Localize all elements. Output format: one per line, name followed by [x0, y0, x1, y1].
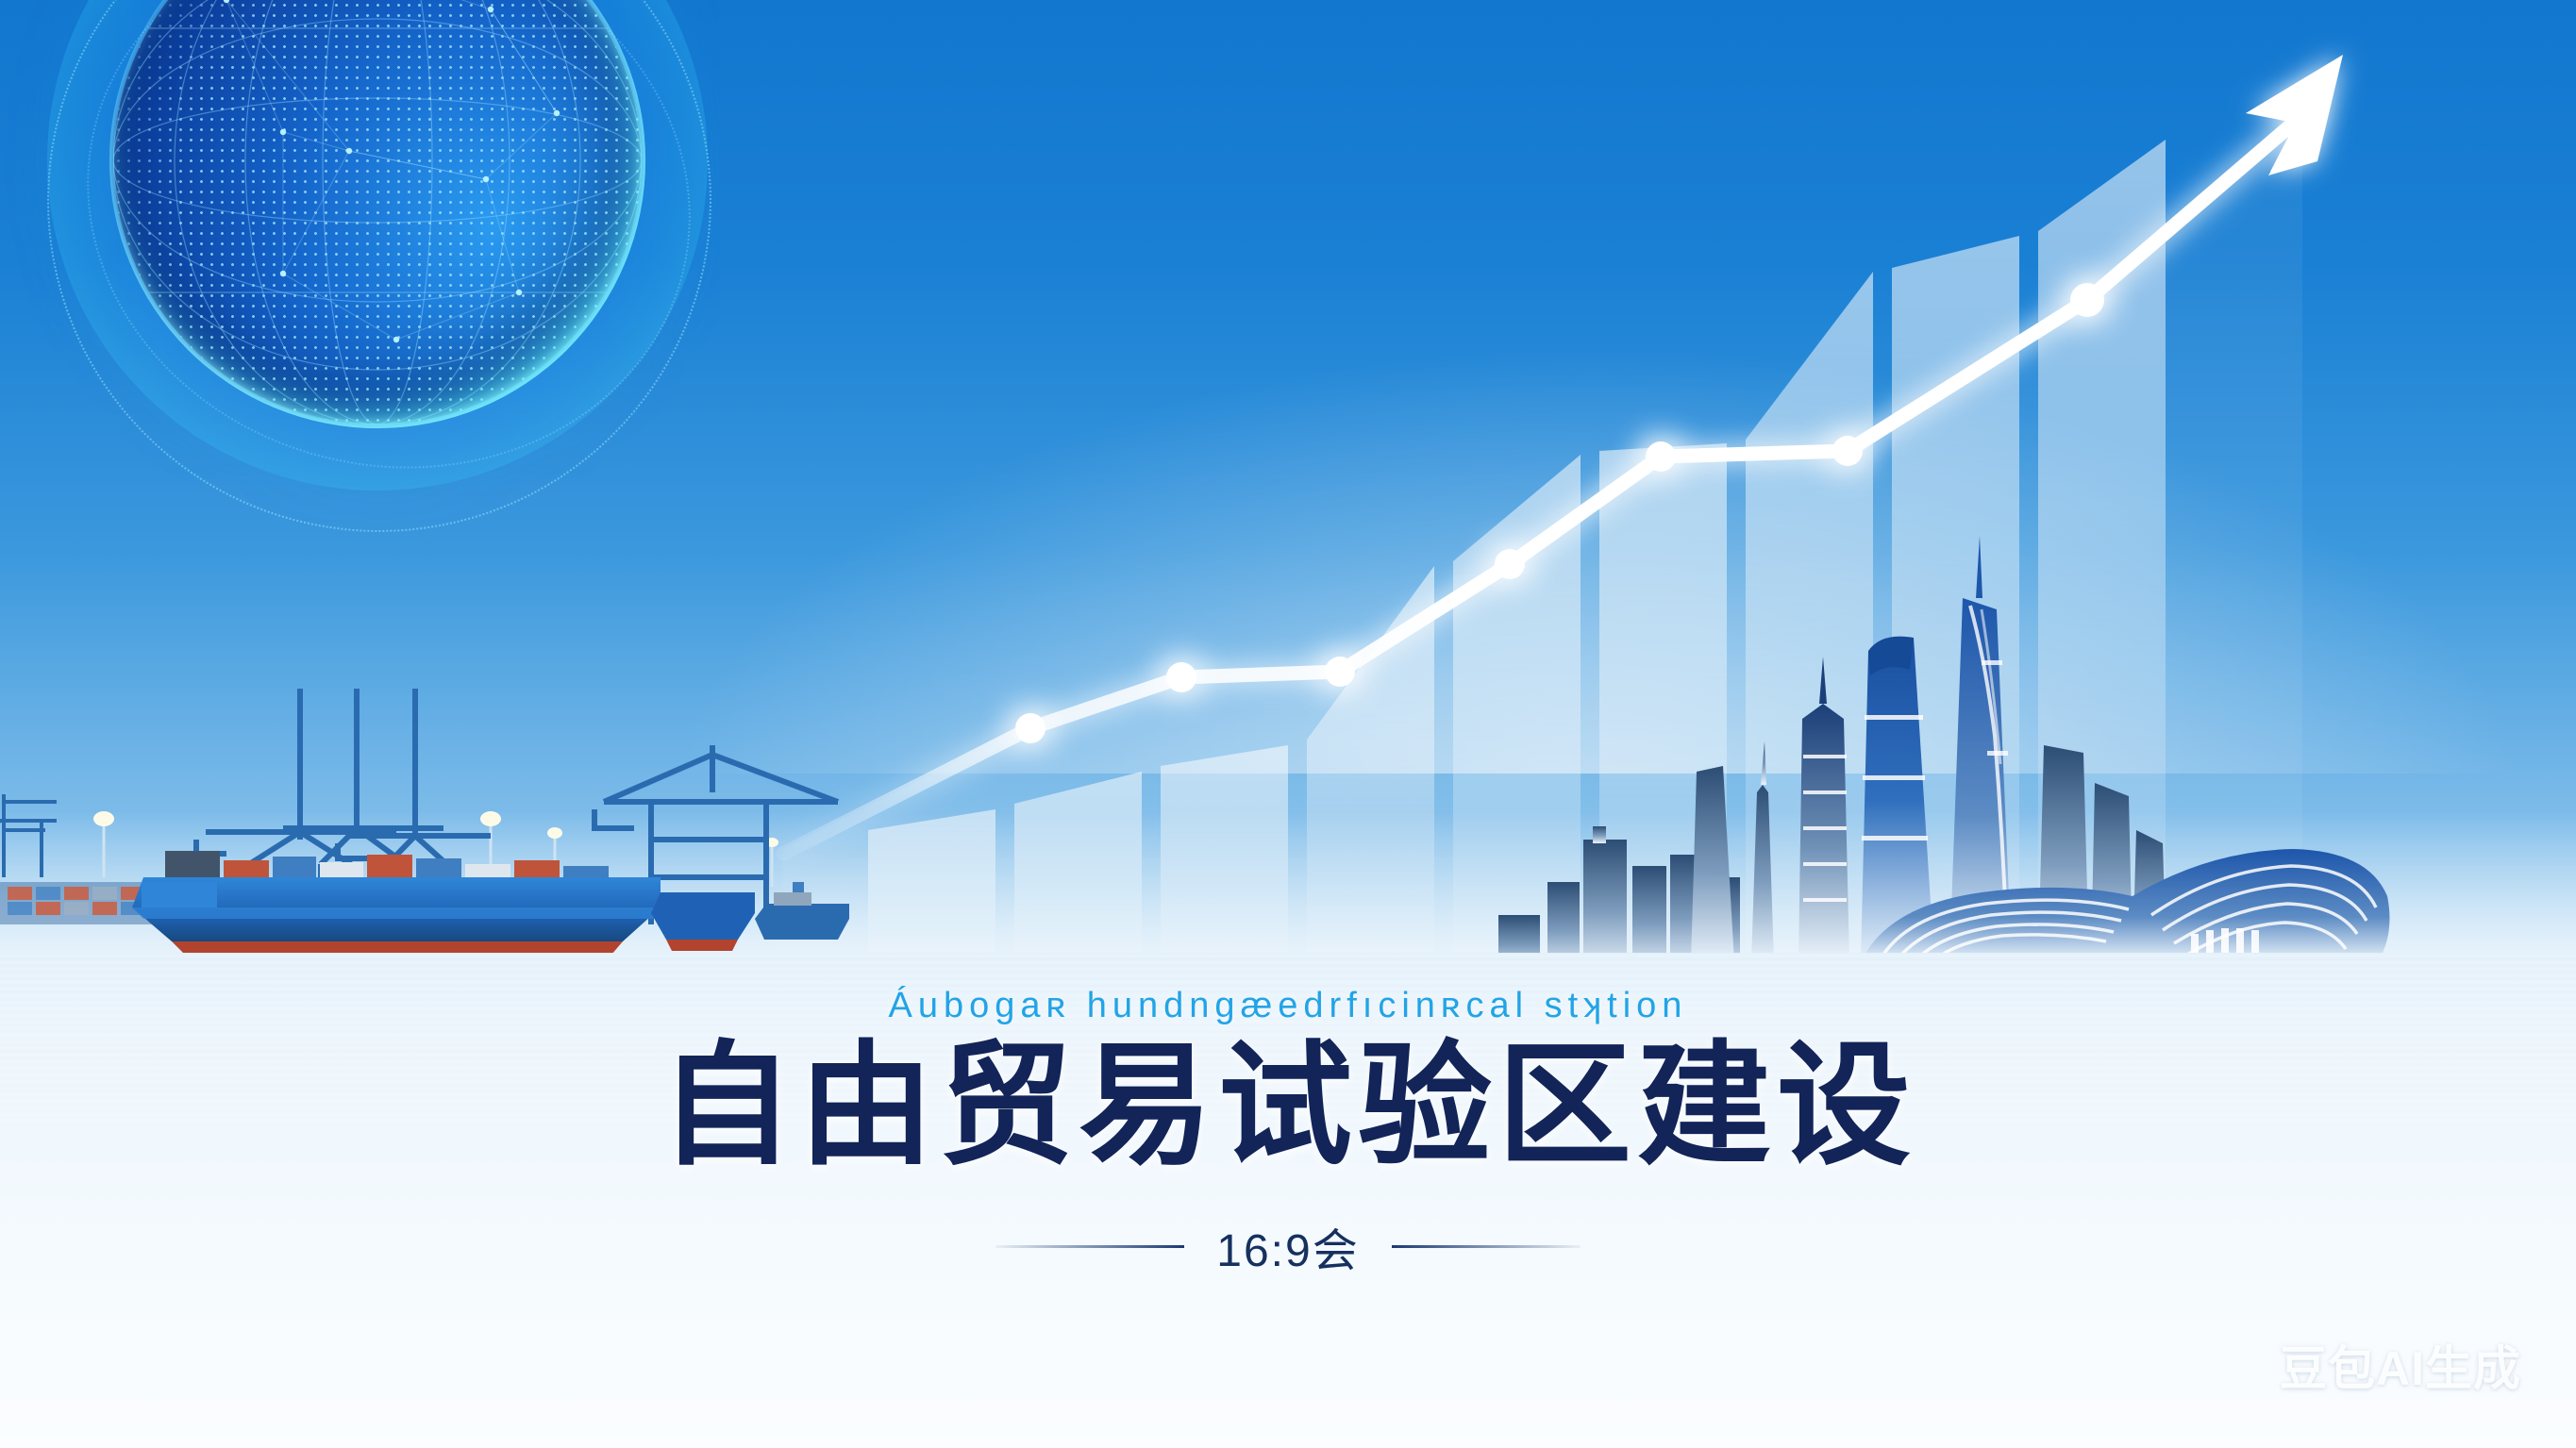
page-title: 自由贸易试验区建设 [0, 1040, 2576, 1173]
port-crane-icon [0, 794, 57, 877]
poster-caption: 16:9会 [1216, 1213, 1359, 1279]
container-ship-icon [0, 689, 868, 972]
watermark: 豆包AI生成 [2280, 1331, 2521, 1399]
city-skyline-icon [1491, 519, 2434, 972]
divider-right [1392, 1245, 1581, 1248]
caption-row: 16:9会 [0, 1213, 2576, 1279]
poster-subtitle: Áubogaʀ hundngæedrfıcinʀcal stʞtion [0, 986, 2576, 1026]
poster-canvas: Áubogaʀ hundngæedrfıcinʀcal stʞtion 自由贸易… [0, 0, 2576, 1448]
poster-text-block: Áubogaʀ hundngæedrfıcinʀcal stʞtion 自由贸易… [0, 986, 2576, 1279]
divider-left [995, 1245, 1184, 1248]
